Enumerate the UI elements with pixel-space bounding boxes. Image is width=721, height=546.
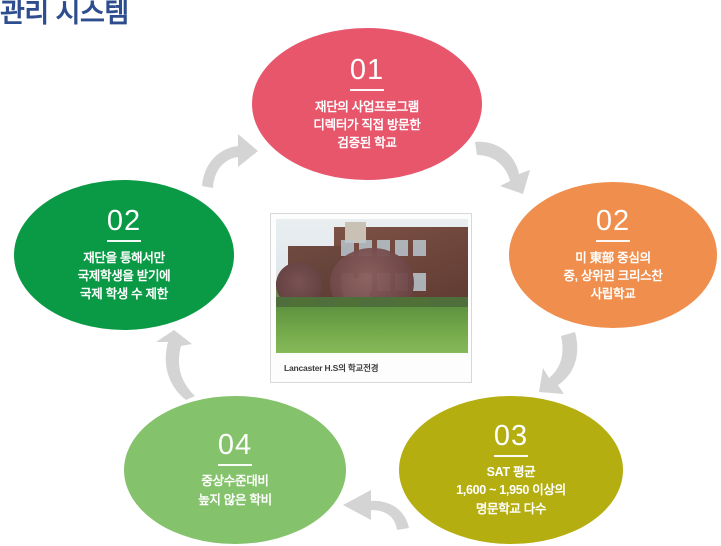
node-text-line: 재단을 통해서만 (78, 249, 171, 267)
node-text: 미 東部 중심의 중, 상위권 크리스찬 사립학교 (563, 249, 662, 303)
node-number: 03 (494, 422, 528, 457)
node-text: SAT 평균 1,600 ~ 1,950 이상의 명문학교 다수 (456, 463, 566, 517)
node-text-line: 사립학교 (563, 285, 662, 303)
node-text-line: 중상수준대비 (198, 472, 272, 490)
node-number: 01 (350, 56, 384, 91)
node-text-line: 중, 상위권 크리스찬 (563, 267, 662, 285)
cycle-node-03[interactable]: 03 SAT 평균 1,600 ~ 1,950 이상의 명문학교 다수 (399, 396, 623, 544)
node-text-line: 미 東部 중심의 (563, 249, 662, 267)
cycle-node-05-left[interactable]: 02 재단을 통해서만 국제학생을 받기에 국제 학생 수 제한 (14, 180, 234, 330)
arrow-up-right-icon (198, 132, 260, 192)
node-text-line: 명문학교 다수 (456, 500, 566, 518)
node-text-line: SAT 평균 (456, 463, 566, 481)
arrow-up-icon (150, 330, 202, 402)
center-photo-card: Lancaster H.S의 학교전경 (270, 213, 472, 383)
cycle-node-04[interactable]: 04 중상수준대비 높지 않은 학비 (124, 396, 346, 544)
photo-window (413, 273, 426, 291)
node-number: 02 (107, 207, 141, 242)
node-text-line: 국제학생을 받기에 (78, 267, 171, 285)
node-text: 재단을 통해서만 국제학생을 받기에 국제 학생 수 제한 (78, 249, 171, 303)
node-text-line: 디렉터가 직접 방문한 (313, 116, 420, 134)
node-number: 02 (596, 207, 630, 242)
arrow-left-icon (339, 488, 411, 532)
node-text: 재단의 사업프로그램 디렉터가 직접 방문한 검증된 학교 (313, 98, 420, 152)
node-text: 중상수준대비 높지 않은 학비 (198, 472, 272, 508)
school-building-photo (276, 219, 468, 353)
cycle-node-01[interactable]: 01 재단의 사업프로그램 디렉터가 직접 방문한 검증된 학교 (252, 28, 482, 180)
diagram-canvas: 관리 시스템 01 재단의 사업프로그램 디렉터가 직접 방문한 검증된 학교 … (0, 0, 721, 546)
node-text-line: 국제 학생 수 제한 (78, 285, 171, 303)
photo-lawn (276, 307, 468, 353)
cycle-node-02-right[interactable]: 02 미 東部 중심의 중, 상위권 크리스찬 사립학교 (509, 182, 717, 328)
photo-caption: Lancaster H.S의 학교전경 (276, 353, 466, 374)
arrow-down-left-icon (531, 330, 585, 400)
node-text-line: 높지 않은 학비 (198, 491, 272, 509)
node-number: 04 (218, 431, 252, 466)
arrow-down-right-icon (473, 136, 535, 196)
page-title: 관리 시스템 (0, 0, 129, 30)
node-text-line: 검증된 학교 (313, 134, 420, 152)
node-text-line: 1,600 ~ 1,950 이상의 (456, 481, 566, 499)
photo-window (413, 240, 426, 256)
node-text-line: 재단의 사업프로그램 (313, 98, 420, 116)
